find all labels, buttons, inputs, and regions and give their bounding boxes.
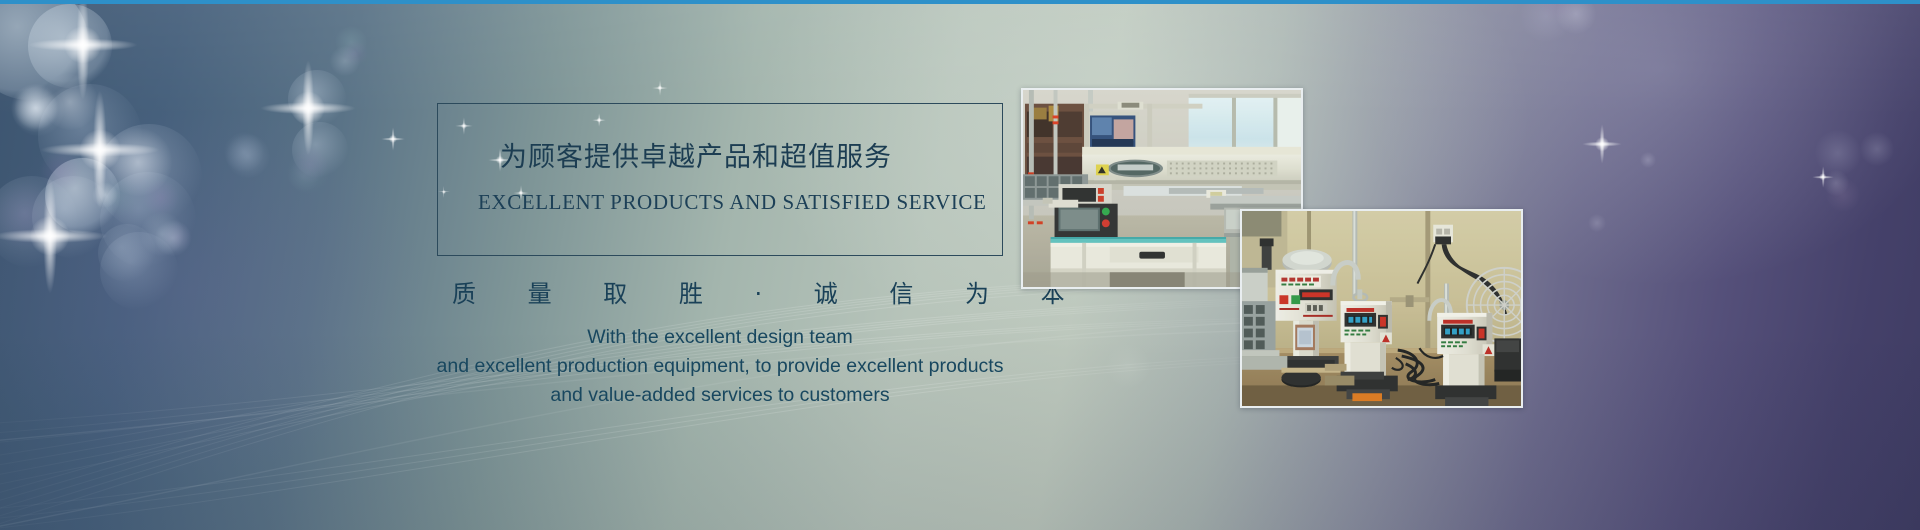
headline-chinese: 为顾客提供卓越产品和超值服务 [500, 135, 940, 174]
body-paragraph: With the excellent design team and excel… [330, 323, 1110, 410]
photo-workshop-presses [1240, 209, 1523, 408]
body-line-3: and value-added services to customers [330, 381, 1110, 410]
body-line-1: With the excellent design team [330, 323, 1110, 352]
body-line-2: and excellent production equipment, to p… [330, 352, 1110, 381]
slogan-chinese: 质 量 取 胜 · 诚 信 为 本 [430, 274, 1010, 309]
headline-english: EXCELLENT PRODUCTS AND SATISFIED SERVICE [478, 190, 962, 215]
headline-frame [437, 103, 1003, 256]
promo-banner: 为顾客提供卓越产品和超值服务 EXCELLENT PRODUCTS AND SA… [0, 0, 1920, 530]
top-accent-bar [0, 0, 1920, 4]
